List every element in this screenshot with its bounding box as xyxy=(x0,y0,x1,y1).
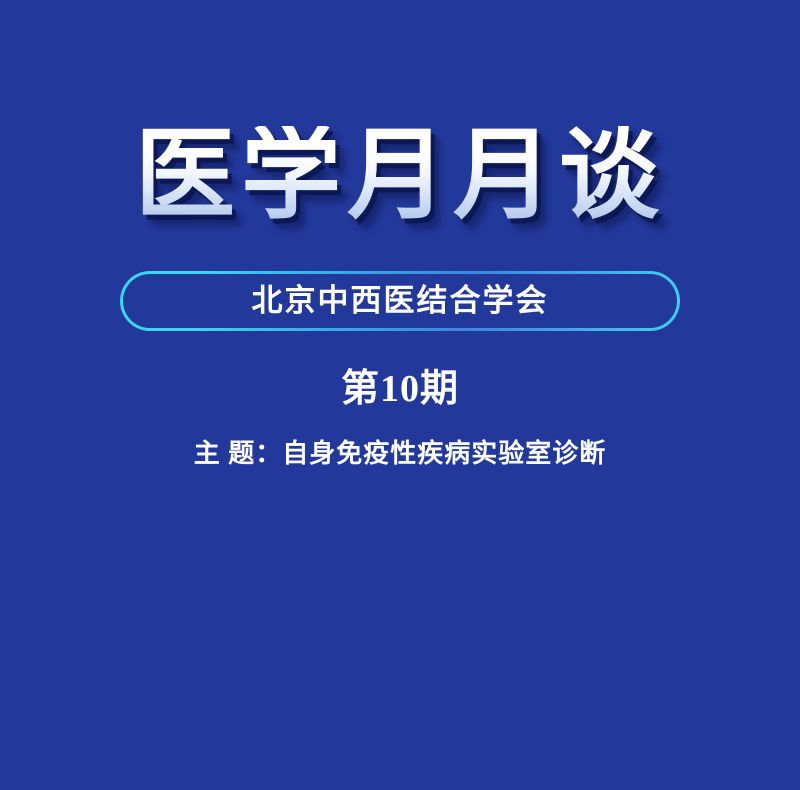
topic-line: 主 题：自身免疫性疾病实验室诊断 xyxy=(0,440,800,469)
organization-pill-inner: 北京中西医结合学会 xyxy=(123,274,677,328)
poster-main-title: 医学月月谈 xyxy=(135,126,665,226)
organization-name: 北京中西医结合学会 xyxy=(252,285,549,316)
title-block: 医学月月谈 xyxy=(0,126,800,226)
organization-pill: 北京中西医结合学会 xyxy=(120,271,680,331)
poster-canvas: 医学月月谈 北京中西医结合学会 第10期 主 题：自身免疫性疾病实验室诊断 xyxy=(0,0,800,790)
issue-number-label: 第10期 xyxy=(0,370,800,408)
